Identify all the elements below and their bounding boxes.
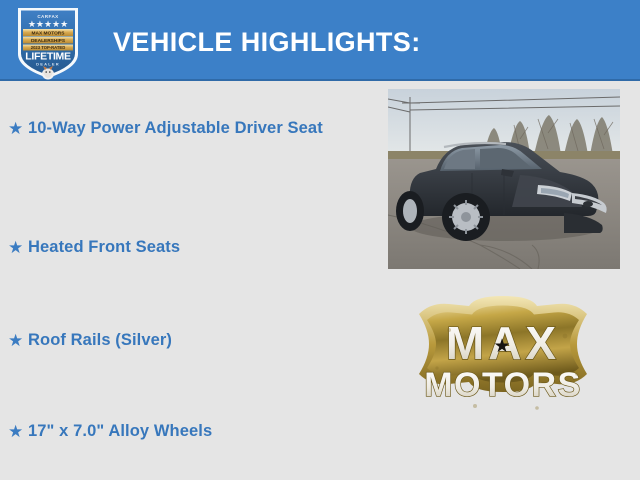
list-item-label: Heated Front Seats bbox=[28, 236, 180, 259]
list-item-label: Roof Rails (Silver) bbox=[28, 329, 172, 352]
slide-root: CARFAX ★★★★★ MAX MOTORS DEALERSHIPS 2023… bbox=[0, 0, 640, 480]
star-bullet-icon: ★ bbox=[8, 236, 28, 259]
svg-text:2023 TOP-RATED: 2023 TOP-RATED bbox=[31, 45, 66, 50]
svg-text:MAX MOTORS: MAX MOTORS bbox=[32, 31, 66, 37]
vehicle-highlights-list: ★ 10-Way Power Adjustable Driver Seat ★ … bbox=[0, 96, 380, 466]
list-item: ★ Roof Rails (Silver) bbox=[8, 329, 374, 352]
star-bullet-icon: ★ bbox=[8, 117, 28, 140]
page-title: VEHICLE HIGHLIGHTS: bbox=[113, 27, 421, 58]
svg-text:MOTORS: MOTORS bbox=[424, 366, 582, 404]
svg-text:DEALERSHIPS: DEALERSHIPS bbox=[31, 38, 66, 44]
list-item-label: 17" x 7.0" Alloy Wheels bbox=[28, 420, 212, 443]
vehicle-photo bbox=[388, 89, 620, 269]
list-item: ★ 10-Way Power Adjustable Driver Seat bbox=[8, 117, 374, 140]
star-bullet-icon: ★ bbox=[8, 420, 28, 443]
svg-text:★: ★ bbox=[493, 336, 510, 357]
star-bullet-icon: ★ bbox=[8, 329, 28, 352]
list-item: ★ Heated Front Seats bbox=[8, 236, 374, 259]
carfax-lifetime-dealer-badge: CARFAX ★★★★★ MAX MOTORS DEALERSHIPS 2023… bbox=[12, 2, 84, 80]
header-bar: CARFAX ★★★★★ MAX MOTORS DEALERSHIPS 2023… bbox=[0, 0, 640, 81]
max-motors-logo: MAX ★ MOTORS bbox=[397, 296, 609, 442]
list-item: ★ 17" x 7.0" Alloy Wheels bbox=[8, 420, 374, 443]
svg-text:DEALER: DEALER bbox=[36, 62, 60, 67]
list-item-label: 10-Way Power Adjustable Driver Seat bbox=[28, 117, 323, 140]
svg-text:★★★★★: ★★★★★ bbox=[28, 19, 68, 29]
